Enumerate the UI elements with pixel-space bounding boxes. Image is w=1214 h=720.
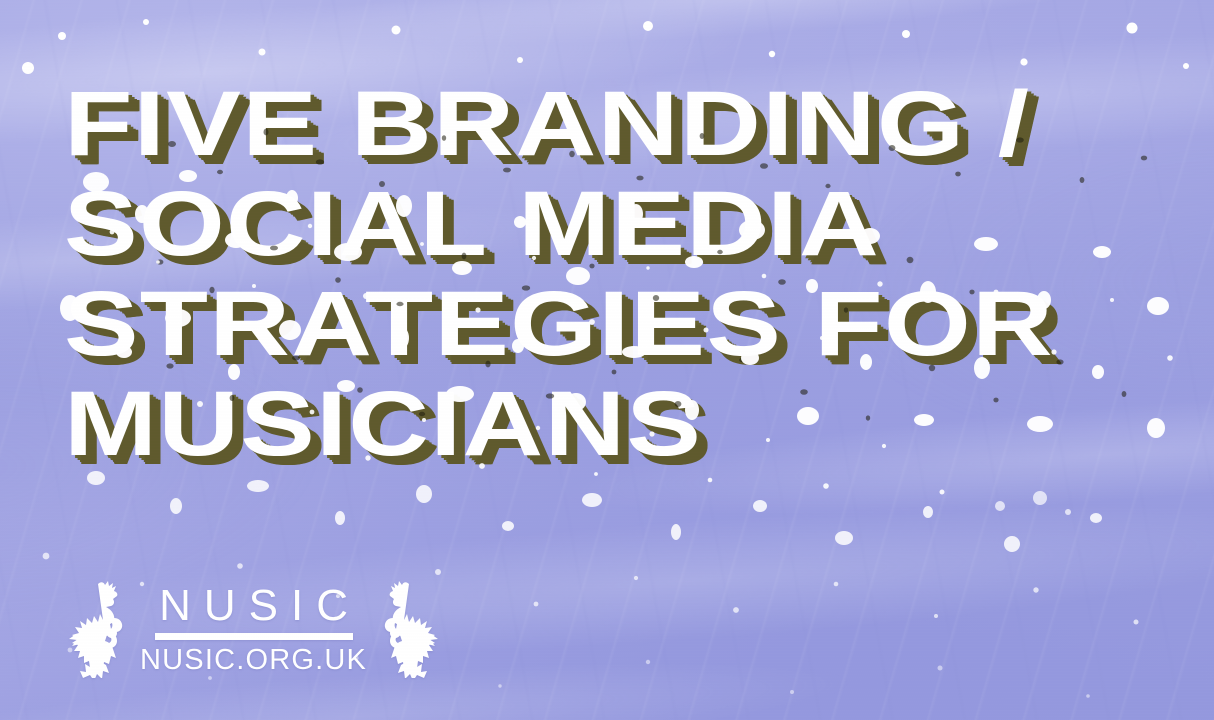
nusic-logo[interactable]: NUSIC NUSIC.ORG.UK	[68, 578, 439, 678]
heraldic-lion-rampant-left-icon	[68, 578, 130, 678]
headline-line-4: MUSICIANS	[64, 374, 1214, 474]
logo-wordmark: NUSIC	[146, 581, 361, 631]
promo-poster: FIVE BRANDING / SOCIAL MEDIA STRATEGIES …	[0, 0, 1214, 720]
headline-block: FIVE BRANDING / SOCIAL MEDIA STRATEGIES …	[64, 74, 1184, 474]
headline-line-2: SOCIAL MEDIA	[64, 174, 1214, 274]
heraldic-lion-rampant-right-icon	[377, 578, 439, 678]
logo-divider-rule	[155, 633, 353, 640]
headline-line-1: FIVE BRANDING /	[64, 74, 1214, 174]
logo-center-stack: NUSIC NUSIC.ORG.UK	[136, 581, 371, 676]
logo-url[interactable]: NUSIC.ORG.UK	[140, 644, 367, 676]
headline-line-3: STRATEGIES FOR	[64, 274, 1214, 374]
